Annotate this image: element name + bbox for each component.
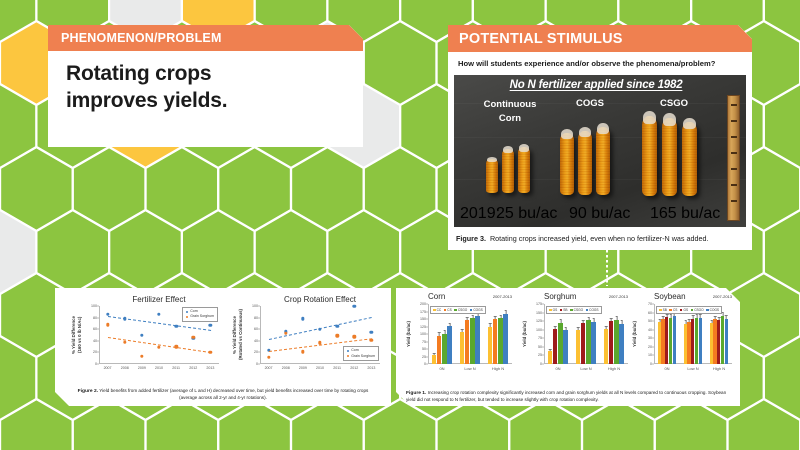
bar bbox=[493, 319, 498, 364]
x-tick-label: Low N bbox=[464, 366, 475, 371]
y-tick-mark bbox=[652, 364, 654, 365]
legend-item: CSGO bbox=[570, 308, 583, 312]
y-tick-mark bbox=[97, 340, 99, 341]
legend-item: CSGO bbox=[454, 308, 467, 312]
y-axis-label: % Yield Difference (Rotated vs Continuou… bbox=[232, 302, 254, 368]
x-tick-label: 2007 bbox=[265, 366, 273, 370]
error-bar-cap bbox=[433, 353, 436, 354]
bar bbox=[465, 320, 470, 364]
legend-swatch bbox=[706, 309, 709, 312]
photo-yield-csgo: 165 bu/ac bbox=[650, 205, 720, 223]
corn-comparison-photo: No N fertilizer applied since 1982 Conti… bbox=[454, 75, 746, 227]
error-bar-cap bbox=[564, 327, 567, 328]
x-axis bbox=[260, 363, 380, 364]
error-bar bbox=[583, 321, 584, 323]
legend-item: CS bbox=[669, 308, 677, 312]
chart-crop-rotation-effect: Crop Rotation Effect% Yield Difference (… bbox=[260, 306, 380, 364]
photo-label-continuous-corn: Continuous Corn bbox=[478, 98, 542, 126]
stimulus-question: How will students experience and/or obse… bbox=[448, 52, 752, 75]
phenomenon-problem-card: PHENOMENON/PROBLEM Rotating crops improv… bbox=[48, 25, 363, 147]
y-axis bbox=[260, 306, 261, 364]
chart-corn-yield: Corn2007-2013Yield (bu/ac)02550751001251… bbox=[428, 304, 512, 364]
error-bar bbox=[611, 318, 612, 320]
bar bbox=[488, 327, 493, 364]
ruler-icon bbox=[727, 95, 740, 221]
y-tick-mark bbox=[97, 364, 99, 365]
y-tick-mark bbox=[258, 329, 260, 330]
error-bar bbox=[444, 331, 445, 335]
legend-item: COGS bbox=[586, 308, 599, 312]
bar bbox=[460, 332, 465, 364]
x-tick-label: 2009 bbox=[138, 366, 146, 370]
y-tick-mark bbox=[652, 338, 654, 339]
bar bbox=[710, 323, 713, 364]
legend-label: COGS bbox=[589, 308, 598, 312]
error-bar-cap bbox=[549, 349, 552, 350]
error-bar bbox=[467, 317, 468, 320]
y-tick-mark bbox=[426, 364, 428, 365]
legend-item: CC bbox=[433, 308, 441, 312]
bar bbox=[604, 329, 609, 364]
legend-item: SB bbox=[560, 308, 568, 312]
legend-label: Grain Sorghum bbox=[351, 354, 375, 359]
legend-item: GS bbox=[549, 308, 557, 312]
error-bar-cap bbox=[443, 330, 446, 331]
bar bbox=[548, 351, 553, 364]
y-tick-mark bbox=[426, 334, 428, 335]
data-point bbox=[157, 345, 160, 348]
legend-item: CS bbox=[444, 308, 452, 312]
bar bbox=[673, 316, 676, 364]
error-bar-cap bbox=[489, 323, 492, 324]
error-bar-cap bbox=[577, 327, 580, 328]
bar bbox=[553, 329, 558, 364]
corn-cob bbox=[502, 149, 514, 193]
legend-label: CSGO bbox=[458, 308, 467, 312]
legend-label: SB bbox=[563, 308, 567, 312]
legend-swatch bbox=[549, 309, 552, 312]
legend-swatch bbox=[433, 309, 436, 312]
error-bar bbox=[560, 320, 561, 323]
x-tick-label: 2007 bbox=[104, 366, 112, 370]
x-tick-label: High N bbox=[713, 366, 725, 371]
photo-label-csgo: CSGO bbox=[652, 98, 696, 109]
data-point bbox=[335, 325, 338, 328]
data-point bbox=[157, 312, 160, 315]
bar bbox=[442, 334, 447, 364]
y-tick-mark bbox=[97, 352, 99, 353]
y-tick-mark bbox=[652, 329, 654, 330]
data-point bbox=[174, 325, 177, 328]
chart-legend: CornGrain Sorghum bbox=[343, 346, 379, 361]
bar bbox=[669, 318, 672, 364]
y-tick-mark bbox=[426, 319, 428, 320]
bar bbox=[576, 330, 581, 364]
data-point bbox=[106, 323, 109, 326]
y-axis bbox=[654, 304, 655, 364]
legend-item: SB bbox=[659, 308, 667, 312]
slide-canvas: PHENOMENON/PROBLEM Rotating crops improv… bbox=[0, 0, 800, 450]
error-bar-cap bbox=[461, 329, 464, 330]
legend-label: COGS bbox=[710, 308, 719, 312]
bar bbox=[695, 318, 698, 364]
legend-swatch bbox=[470, 309, 473, 312]
data-point bbox=[267, 355, 270, 358]
bar bbox=[498, 318, 503, 364]
error-bar-cap bbox=[438, 332, 441, 333]
error-bar-cap bbox=[692, 315, 695, 316]
chart-year-range: 2007-2013 bbox=[493, 294, 512, 299]
error-bar-cap bbox=[714, 316, 717, 317]
y-tick-mark bbox=[542, 312, 544, 313]
x-tick-label: 2013 bbox=[367, 366, 375, 370]
bar bbox=[475, 316, 480, 364]
figure1-caption: Figure 1. Increasing crop rotation compl… bbox=[396, 390, 740, 404]
legend-item: Grain Sorghum bbox=[186, 314, 214, 319]
error-bar bbox=[616, 317, 617, 320]
bar bbox=[619, 324, 624, 364]
legend-label: COGS bbox=[473, 308, 482, 312]
error-bar-cap bbox=[725, 315, 728, 316]
x-tick-label: 2010 bbox=[155, 366, 163, 370]
legend-swatch bbox=[454, 309, 457, 312]
figure3-caption: Figure 3. Rotating crops increased yield… bbox=[448, 227, 752, 250]
data-point bbox=[335, 334, 338, 337]
data-point bbox=[209, 323, 212, 326]
y-axis-label: Yield (bu/ac) bbox=[406, 304, 420, 364]
y-tick-mark bbox=[258, 364, 260, 365]
x-tick-label: 0N bbox=[439, 366, 444, 371]
bar bbox=[470, 318, 475, 364]
bar bbox=[717, 320, 720, 364]
legend-swatch bbox=[680, 309, 683, 312]
data-point bbox=[353, 304, 356, 307]
error-bar bbox=[495, 316, 496, 319]
data-point bbox=[318, 328, 321, 331]
error-bar bbox=[588, 318, 589, 321]
bar bbox=[432, 355, 437, 364]
legend-label: Grain Sorghum bbox=[190, 314, 214, 319]
legend-label: CSGO bbox=[694, 308, 703, 312]
error-bar bbox=[472, 315, 473, 318]
y-tick-mark bbox=[426, 349, 428, 350]
data-point bbox=[192, 336, 195, 339]
bar bbox=[658, 322, 661, 364]
error-bar-cap bbox=[592, 318, 595, 319]
photo-yield-continuous-corn: 25 bu/ac bbox=[496, 205, 557, 223]
x-tick-label: 2009 bbox=[299, 366, 307, 370]
error-bar bbox=[462, 329, 463, 332]
y-tick-mark bbox=[426, 304, 428, 305]
legend-label: SB bbox=[663, 308, 667, 312]
error-bar bbox=[550, 349, 551, 351]
y-tick-mark bbox=[542, 364, 544, 365]
y-tick-mark bbox=[426, 356, 428, 357]
bar bbox=[684, 324, 687, 364]
error-bar bbox=[667, 314, 668, 317]
photo-title: No N fertilizer applied since 1982 bbox=[476, 79, 716, 91]
y-tick-mark bbox=[542, 321, 544, 322]
error-bar bbox=[685, 321, 686, 324]
error-bar bbox=[505, 311, 506, 314]
data-point bbox=[370, 330, 373, 333]
y-tick-mark bbox=[542, 329, 544, 330]
y-axis-label: % Yield Difference (160 vs 0 lb N/Ac) bbox=[71, 302, 93, 368]
y-tick-mark bbox=[426, 326, 428, 327]
chart-legend: GSSBCSGOCOGS bbox=[546, 306, 602, 314]
error-bar bbox=[593, 319, 594, 321]
error-bar bbox=[555, 326, 556, 328]
data-point bbox=[123, 340, 126, 343]
chart-title: Crop Rotation Effect bbox=[250, 295, 390, 304]
data-point bbox=[209, 351, 212, 354]
legend-swatch bbox=[347, 355, 350, 358]
bar bbox=[665, 317, 668, 364]
data-point bbox=[370, 339, 373, 342]
error-bar bbox=[500, 315, 501, 318]
error-bar bbox=[670, 314, 671, 317]
legend-swatch bbox=[347, 350, 350, 353]
legend-swatch bbox=[669, 309, 672, 312]
problem-statement-line1: Rotating crops bbox=[66, 61, 345, 88]
data-point bbox=[140, 333, 143, 336]
error-bar bbox=[693, 316, 694, 319]
x-axis bbox=[99, 363, 219, 364]
y-tick-mark bbox=[652, 321, 654, 322]
legend-label: CS bbox=[673, 308, 677, 312]
y-tick-mark bbox=[258, 340, 260, 341]
problem-statement-line2: improves yields. bbox=[66, 88, 345, 115]
figure2-caption: Figure 2. Yield benefits from added fert… bbox=[55, 388, 391, 402]
figure3-caption-number: Figure 3. bbox=[456, 234, 486, 243]
y-tick-mark bbox=[426, 341, 428, 342]
bar bbox=[558, 323, 563, 364]
figure2-caption-number: Figure 2. bbox=[78, 389, 98, 394]
bar bbox=[614, 320, 619, 364]
error-bar bbox=[726, 316, 727, 319]
y-axis-label: Yield (bu/ac) bbox=[522, 304, 536, 364]
legend-label: GS bbox=[553, 308, 558, 312]
chart-year-range: 2007-2013 bbox=[713, 294, 732, 299]
error-bar-cap bbox=[471, 315, 474, 316]
chart-title: Corn bbox=[428, 292, 488, 301]
data-point bbox=[123, 317, 126, 320]
bar bbox=[713, 319, 716, 364]
error-bar bbox=[659, 319, 660, 322]
y-tick-mark bbox=[97, 306, 99, 307]
error-bar bbox=[606, 326, 607, 328]
potential-stimulus-card: POTENTIAL STIMULUS How will students exp… bbox=[448, 25, 752, 250]
corn-cob bbox=[642, 116, 657, 196]
data-point bbox=[301, 350, 304, 353]
corn-cob bbox=[486, 159, 498, 193]
y-tick-mark bbox=[97, 317, 99, 318]
legend-item: COGS bbox=[706, 308, 719, 312]
corn-cob bbox=[578, 131, 592, 195]
legend-label: CC bbox=[437, 308, 442, 312]
legend-swatch bbox=[186, 311, 189, 314]
error-bar bbox=[722, 313, 723, 316]
phenomenon-problem-body: Rotating crops improves yields. bbox=[48, 51, 363, 147]
chart-title: Soybean bbox=[654, 292, 714, 301]
legend-swatch bbox=[659, 309, 662, 312]
error-bar-cap bbox=[620, 320, 623, 321]
chart-title: Fertilizer Effect bbox=[89, 295, 229, 304]
photo-year-label: 2019: bbox=[460, 205, 500, 223]
error-bar-cap bbox=[610, 318, 613, 319]
y-tick-mark bbox=[652, 346, 654, 347]
y-axis-label: Yield (bu/ac) bbox=[632, 304, 646, 364]
bar bbox=[503, 314, 508, 364]
potential-stimulus-header-label: POTENTIAL STIMULUS bbox=[459, 31, 623, 47]
legend-label: CS bbox=[447, 308, 451, 312]
error-bar bbox=[715, 317, 716, 320]
y-tick-mark bbox=[542, 304, 544, 305]
y-axis bbox=[544, 304, 545, 364]
error-bar bbox=[700, 314, 701, 317]
x-tick-label: High N bbox=[492, 366, 504, 371]
y-tick-mark bbox=[258, 317, 260, 318]
error-bar bbox=[434, 354, 435, 355]
x-tick-label: 0N bbox=[555, 366, 560, 371]
figure1-caption-text: Increasing crop rotation complexity sign… bbox=[406, 390, 726, 402]
corn-cob bbox=[596, 127, 610, 195]
figure2-card: Fertilizer Effect% Yield Difference (160… bbox=[55, 288, 391, 406]
bar bbox=[661, 319, 664, 364]
legend-swatch bbox=[186, 316, 189, 319]
legend-item: CSGO bbox=[691, 308, 704, 312]
x-tick-label: 0N bbox=[664, 366, 669, 371]
error-bar-cap bbox=[499, 315, 502, 316]
error-bar bbox=[490, 324, 491, 328]
error-bar bbox=[663, 317, 664, 320]
bar bbox=[725, 319, 728, 364]
error-bar-cap bbox=[504, 310, 507, 311]
corn-cob bbox=[560, 133, 574, 195]
error-bar bbox=[696, 314, 697, 317]
legend-swatch bbox=[570, 309, 573, 312]
bar bbox=[586, 320, 591, 364]
error-bar bbox=[711, 320, 712, 323]
error-bar-cap bbox=[605, 326, 608, 327]
error-bar-cap bbox=[615, 316, 618, 317]
error-bar bbox=[621, 321, 622, 324]
x-tick-label: Low N bbox=[687, 366, 698, 371]
photo-yield-cogs: 90 bu/ac bbox=[569, 205, 630, 223]
chart-fertilizer-effect: Fertilizer Effect% Yield Difference (160… bbox=[99, 306, 219, 364]
phenomenon-problem-header: PHENOMENON/PROBLEM bbox=[48, 25, 363, 51]
y-axis bbox=[428, 304, 429, 364]
y-tick-mark bbox=[258, 352, 260, 353]
y-tick-mark bbox=[652, 304, 654, 305]
corn-cob bbox=[682, 122, 697, 196]
chart-year-range: 2007-2013 bbox=[609, 294, 628, 299]
error-bar bbox=[439, 333, 440, 335]
photo-label-cogs: COGS bbox=[568, 98, 612, 109]
x-tick-label: 2012 bbox=[189, 366, 197, 370]
legend-swatch bbox=[586, 309, 589, 312]
bar bbox=[581, 323, 586, 364]
x-tick-label: Low N bbox=[580, 366, 591, 371]
error-bar bbox=[565, 328, 566, 330]
x-tick-label: 2010 bbox=[316, 366, 324, 370]
error-bar bbox=[689, 319, 690, 322]
data-point bbox=[301, 317, 304, 320]
bar bbox=[691, 319, 694, 364]
bar bbox=[447, 326, 452, 364]
x-tick-label: 2013 bbox=[206, 366, 214, 370]
bar bbox=[687, 322, 690, 364]
error-bar-cap bbox=[448, 323, 451, 324]
error-bar bbox=[719, 318, 720, 321]
y-tick-mark bbox=[426, 311, 428, 312]
bar bbox=[609, 321, 614, 364]
data-point bbox=[353, 335, 356, 338]
figure3-caption-text: Rotating crops increased yield, even whe… bbox=[490, 234, 709, 243]
error-bar bbox=[449, 324, 450, 326]
legend-swatch bbox=[691, 309, 694, 312]
chart-legend: CCCSCSGOCOGS bbox=[430, 306, 486, 314]
dotted-connector-line bbox=[606, 250, 608, 286]
legend-item: Grain Sorghum bbox=[347, 354, 375, 359]
y-tick-mark bbox=[542, 338, 544, 339]
error-bar-cap bbox=[587, 317, 590, 318]
error-bar-cap bbox=[554, 326, 557, 327]
figure1-caption-number: Figure 1. bbox=[406, 391, 426, 396]
legend-item: COGS bbox=[470, 308, 483, 312]
problem-statement: Rotating crops improves yields. bbox=[66, 61, 345, 115]
y-tick-mark bbox=[542, 346, 544, 347]
error-bar-cap bbox=[582, 320, 585, 321]
figure1-card: Corn2007-2013Yield (bu/ac)02550751001251… bbox=[396, 288, 740, 406]
legend-label: CSGO bbox=[574, 308, 583, 312]
bar bbox=[437, 336, 442, 365]
legend-item: GS bbox=[680, 308, 688, 312]
legend-swatch bbox=[444, 309, 447, 312]
data-point bbox=[140, 354, 143, 357]
corn-cob bbox=[662, 118, 677, 196]
chart-title: Sorghum bbox=[544, 292, 604, 301]
figure2-caption-text: Yield benefits from added fertilizer (av… bbox=[99, 388, 368, 400]
x-tick-label: 2008 bbox=[282, 366, 290, 370]
x-tick-label: 2012 bbox=[350, 366, 358, 370]
bar bbox=[721, 316, 724, 364]
y-tick-mark bbox=[652, 355, 654, 356]
corn-cob bbox=[518, 147, 530, 193]
chart-sorghum-yield: Sorghum2007-2013Yield (bu/ac)02550751001… bbox=[544, 304, 628, 364]
x-tick-label: 2011 bbox=[172, 366, 180, 370]
y-axis bbox=[99, 306, 100, 364]
x-tick-label: High N bbox=[608, 366, 620, 371]
chart-soybean-yield: Soybean2007-2013Yield (bu/ac)01020304050… bbox=[654, 304, 732, 364]
x-tick-label: 2011 bbox=[333, 366, 341, 370]
y-tick-mark bbox=[258, 306, 260, 307]
bar bbox=[699, 318, 702, 364]
error-bar-cap bbox=[559, 319, 562, 320]
y-tick-mark bbox=[542, 355, 544, 356]
chart-legend: CornGrain Sorghum bbox=[182, 307, 218, 322]
y-tick-mark bbox=[97, 329, 99, 330]
phenomenon-problem-header-label: PHENOMENON/PROBLEM bbox=[61, 31, 222, 45]
y-tick-mark bbox=[652, 312, 654, 313]
potential-stimulus-header: POTENTIAL STIMULUS bbox=[448, 25, 752, 52]
error-bar-cap bbox=[494, 316, 497, 317]
error-bar bbox=[578, 328, 579, 330]
bar bbox=[563, 330, 568, 364]
x-tick-label: 2008 bbox=[121, 366, 129, 370]
legend-label: GS bbox=[683, 308, 688, 312]
bar bbox=[591, 322, 596, 365]
